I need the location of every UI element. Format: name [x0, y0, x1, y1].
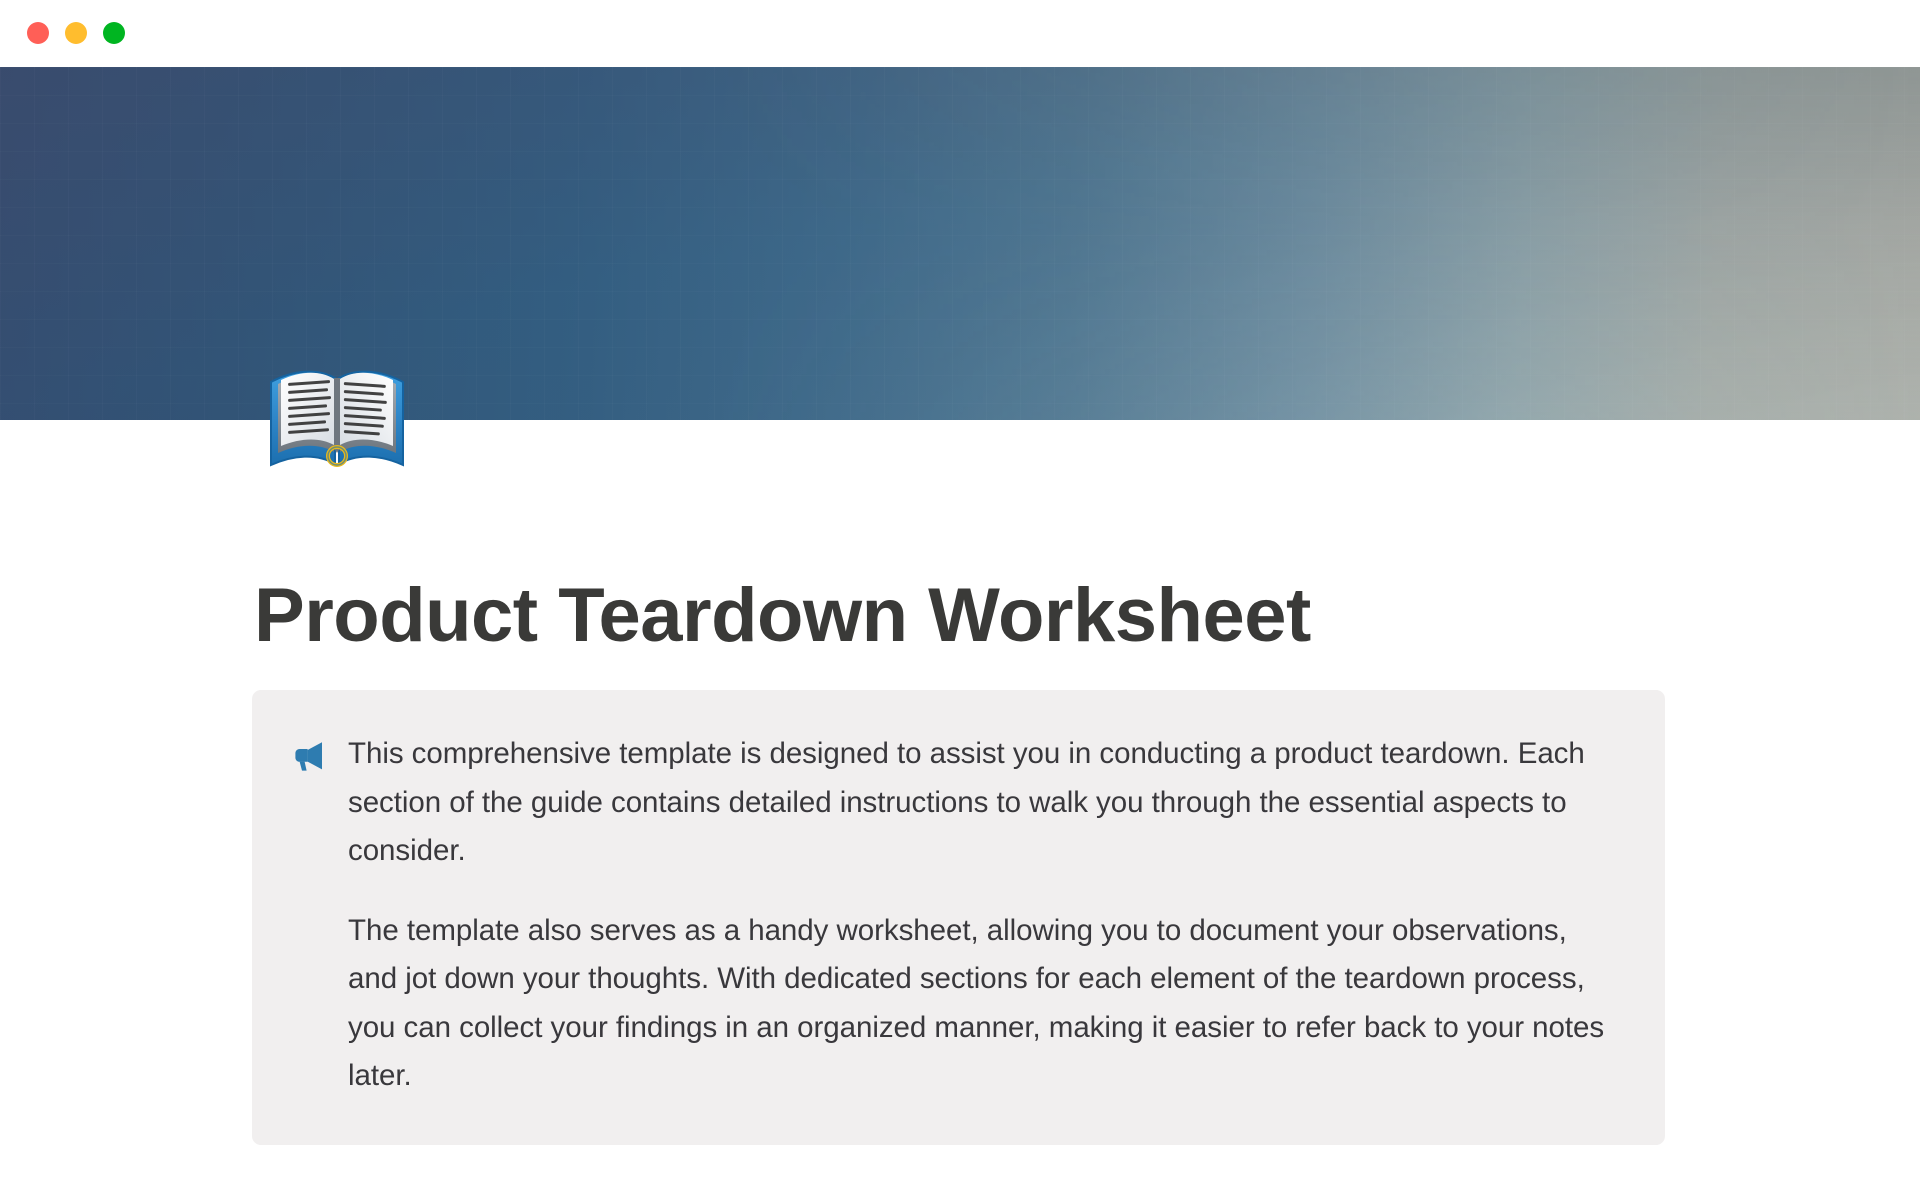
traffic-light-group: [27, 22, 125, 44]
callout-text: This comprehensive template is designed …: [348, 730, 1619, 1101]
minimize-window-button[interactable]: [65, 22, 87, 44]
megaphone-icon: [286, 740, 330, 780]
close-window-button[interactable]: [27, 22, 49, 44]
callout-paragraph-1[interactable]: This comprehensive template is designed …: [348, 730, 1619, 876]
page-title[interactable]: Product Teardown Worksheet: [254, 570, 1674, 662]
maximize-window-button[interactable]: [103, 22, 125, 44]
app-window: Product Teardown Worksheet This comprehe…: [0, 0, 1920, 1200]
callout-block[interactable]: This comprehensive template is designed …: [252, 690, 1665, 1145]
open-book-icon[interactable]: [265, 352, 409, 474]
window-titlebar: [0, 0, 1920, 67]
callout-paragraph-2[interactable]: The template also serves as a handy work…: [348, 907, 1619, 1101]
